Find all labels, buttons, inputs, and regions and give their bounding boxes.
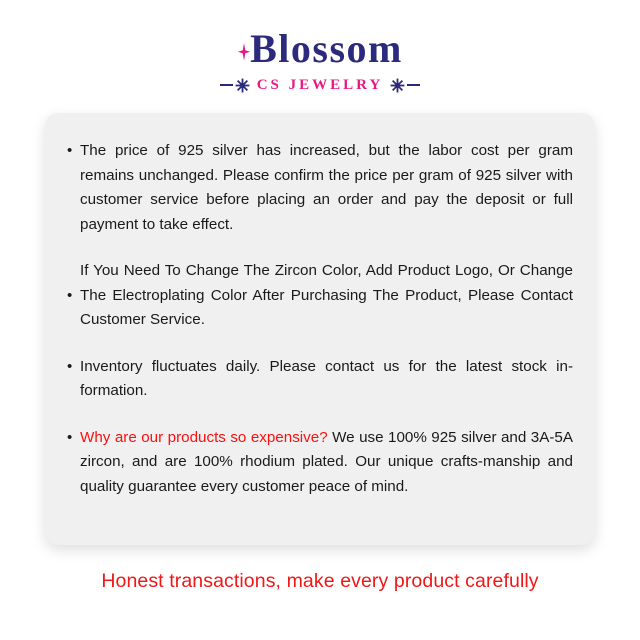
note-inventory: Inventory fluctuates daily. Please conta… (80, 355, 573, 404)
ornament-dash (407, 84, 420, 86)
ornament-dash (220, 84, 233, 86)
list-item: • Why are our products so expensive? We … (67, 426, 573, 500)
footer-slogan: Honest transactions, make every product … (0, 568, 640, 594)
bullet-icon: • (67, 139, 80, 164)
list-item: • If You Need To Change The Zircon Color… (67, 259, 573, 333)
note-customization: If You Need To Change The Zircon Color, … (80, 259, 573, 333)
list-item: • The price of 925 silver has increased,… (67, 139, 573, 237)
notice-card: • The price of 925 silver has increased,… (45, 113, 595, 545)
snowflake-ornament-icon (390, 78, 420, 93)
sparkle-icon (237, 39, 251, 65)
brand-header: Blossom CS JEWELRY (0, 0, 640, 96)
brand-subtitle: CS JEWELRY (257, 76, 384, 94)
bullet-icon: • (67, 355, 80, 380)
brand-title-row: Blossom (0, 26, 640, 72)
list-item: • Inventory fluctuates daily. Please con… (67, 355, 573, 404)
note-highlight: Why are our products so expensive? (80, 429, 328, 446)
note-price-increase: The price of 925 silver has increased, b… (80, 139, 573, 237)
bullet-icon: • (67, 289, 80, 303)
bullet-icon: • (67, 426, 80, 451)
snowflake-ornament-icon (220, 78, 250, 93)
brand-title: Blossom (250, 27, 403, 71)
brand-subtitle-row: CS JEWELRY (0, 74, 640, 96)
note-pricing-rationale: Why are our products so expensive? We us… (80, 426, 573, 500)
footer-text: Honest transactions, make every product … (101, 570, 538, 592)
notice-list: • The price of 925 silver has increased,… (67, 139, 573, 499)
